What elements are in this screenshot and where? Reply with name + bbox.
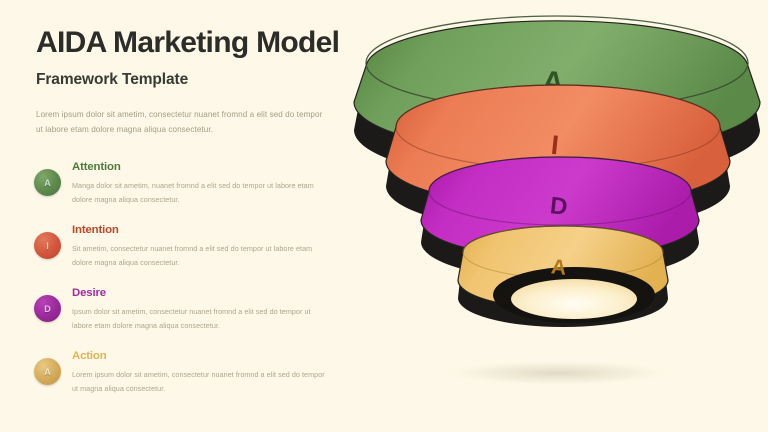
list-item-text: Intention Sit ametim, consectetur nuanet… xyxy=(72,223,330,270)
funnel-mouth xyxy=(511,279,637,319)
list-item-body: Manga dolor sit ametim, nuanet fromnd a … xyxy=(72,179,330,207)
bullet-badge-a1: A xyxy=(34,169,61,196)
funnel-level-action[interactable]: A xyxy=(458,226,668,327)
list-item-action[interactable]: A Action Lorem ipsum dolor sit ametim, c… xyxy=(30,349,370,412)
bullet-badge-d: D xyxy=(34,295,61,322)
aida-item-list: A Attention Manga dolor sit ametim, nuan… xyxy=(30,160,370,412)
list-item-body: Lorem ipsum dolor sit ametim, consectetu… xyxy=(72,368,330,396)
list-item-heading: Action xyxy=(72,350,330,364)
list-item-attention[interactable]: A Attention Manga dolor sit ametim, nuan… xyxy=(30,160,370,223)
text-column: AIDA Marketing Model Framework Template … xyxy=(36,26,366,138)
list-item-heading: Desire xyxy=(72,287,330,301)
funnel-ground-shadow xyxy=(440,360,676,386)
aida-funnel-diagram: A I D xyxy=(336,24,768,414)
slide-canvas: AIDA Marketing Model Framework Template … xyxy=(0,0,768,432)
funnel-label-a2: A xyxy=(550,255,567,279)
intro-paragraph: Lorem ipsum dolor sit ametim, consectetu… xyxy=(36,108,328,138)
list-item-heading: Intention xyxy=(72,224,330,238)
list-item-body: Sit ametim, consectetur nuanet fromnd a … xyxy=(72,242,330,270)
bullet-badge-i: I xyxy=(34,232,61,259)
list-item-heading: Attention xyxy=(72,161,330,175)
list-item-text: Action Lorem ipsum dolor sit ametim, con… xyxy=(72,349,330,396)
bullet-badge-a2: A xyxy=(34,358,61,385)
page-subtitle: Framework Template xyxy=(36,71,366,89)
list-item-desire[interactable]: D Desire Ipsum dolor sit ametim, consect… xyxy=(30,286,370,349)
list-item-body: Ipsum dolor sit ametim, consectetur nuan… xyxy=(72,305,330,333)
list-item-text: Attention Manga dolor sit ametim, nuanet… xyxy=(72,160,330,207)
funnel-label-d: D xyxy=(549,192,569,221)
page-title: AIDA Marketing Model xyxy=(36,26,366,59)
list-item-intention[interactable]: I Intention Sit ametim, consectetur nuan… xyxy=(30,223,370,286)
list-item-text: Desire Ipsum dolor sit ametim, consectet… xyxy=(72,286,330,333)
